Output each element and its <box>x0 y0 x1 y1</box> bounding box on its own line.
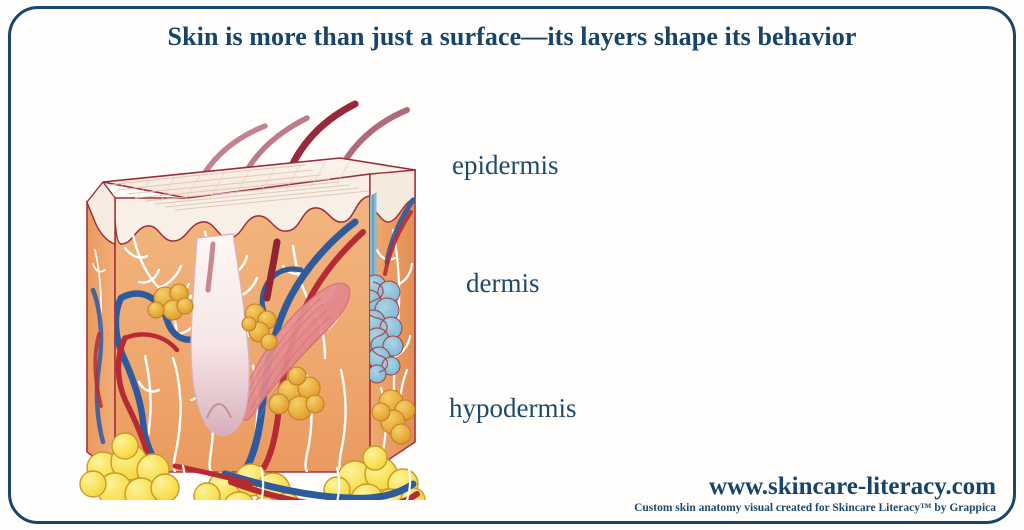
label-epidermis: epidermis <box>452 150 558 181</box>
credit-line: Custom skin anatomy visual created for S… <box>634 502 996 514</box>
website-url: www.skincare-literacy.com <box>634 474 996 500</box>
infographic-card: Skin is more than just a surface—its lay… <box>0 0 1024 530</box>
page-title: Skin is more than just a surface—its lay… <box>0 22 1024 52</box>
skin-cross-section-diagram <box>55 70 475 500</box>
label-dermis: dermis <box>466 268 540 299</box>
label-hypodermis: hypodermis <box>449 393 577 424</box>
footer: www.skincare-literacy.com Custom skin an… <box>634 474 996 514</box>
